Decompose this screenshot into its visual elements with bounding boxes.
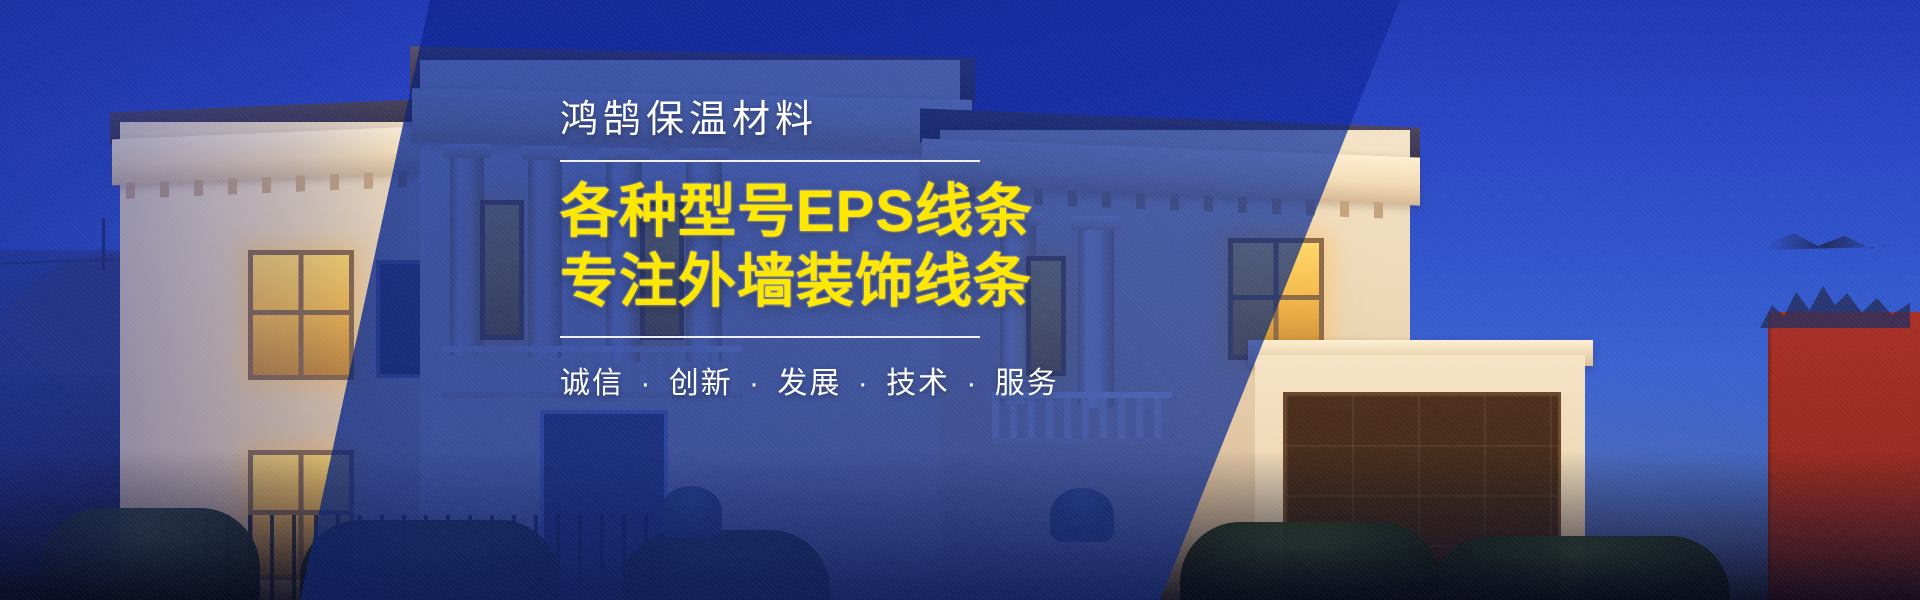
tagline-separator: ·: [966, 367, 978, 400]
tagline: 诚信 · 创新 · 发展 · 技术 · 服务: [560, 358, 1020, 402]
divider-top: [560, 160, 980, 162]
tagline-item-2: 发展: [777, 367, 841, 400]
tagline-item-0: 诚信: [560, 367, 624, 400]
hero-banner: 鸿鹄保温材料 各种型号EPS线条 专注外墙装饰线条 诚信 · 创新 · 发展 ·…: [0, 0, 1920, 600]
brand-name: 鸿鹄保温材料: [560, 98, 1020, 144]
tagline-item-1: 创新: [669, 367, 733, 400]
tagline-item-4: 服务: [995, 367, 1059, 400]
headline-line-2: 专注外墙装饰线条: [560, 248, 1020, 316]
banner-text-block: 鸿鹄保温材料 各种型号EPS线条 专注外墙装饰线条 诚信 · 创新 · 发展 ·…: [560, 98, 1020, 402]
tagline-separator: ·: [858, 367, 870, 400]
divider-bottom: [560, 336, 980, 338]
headline-line-1: 各种型号EPS线条: [560, 178, 1020, 246]
tagline-separator: ·: [640, 367, 652, 400]
tagline-separator: ·: [749, 367, 761, 400]
tagline-item-3: 技术: [886, 367, 950, 400]
